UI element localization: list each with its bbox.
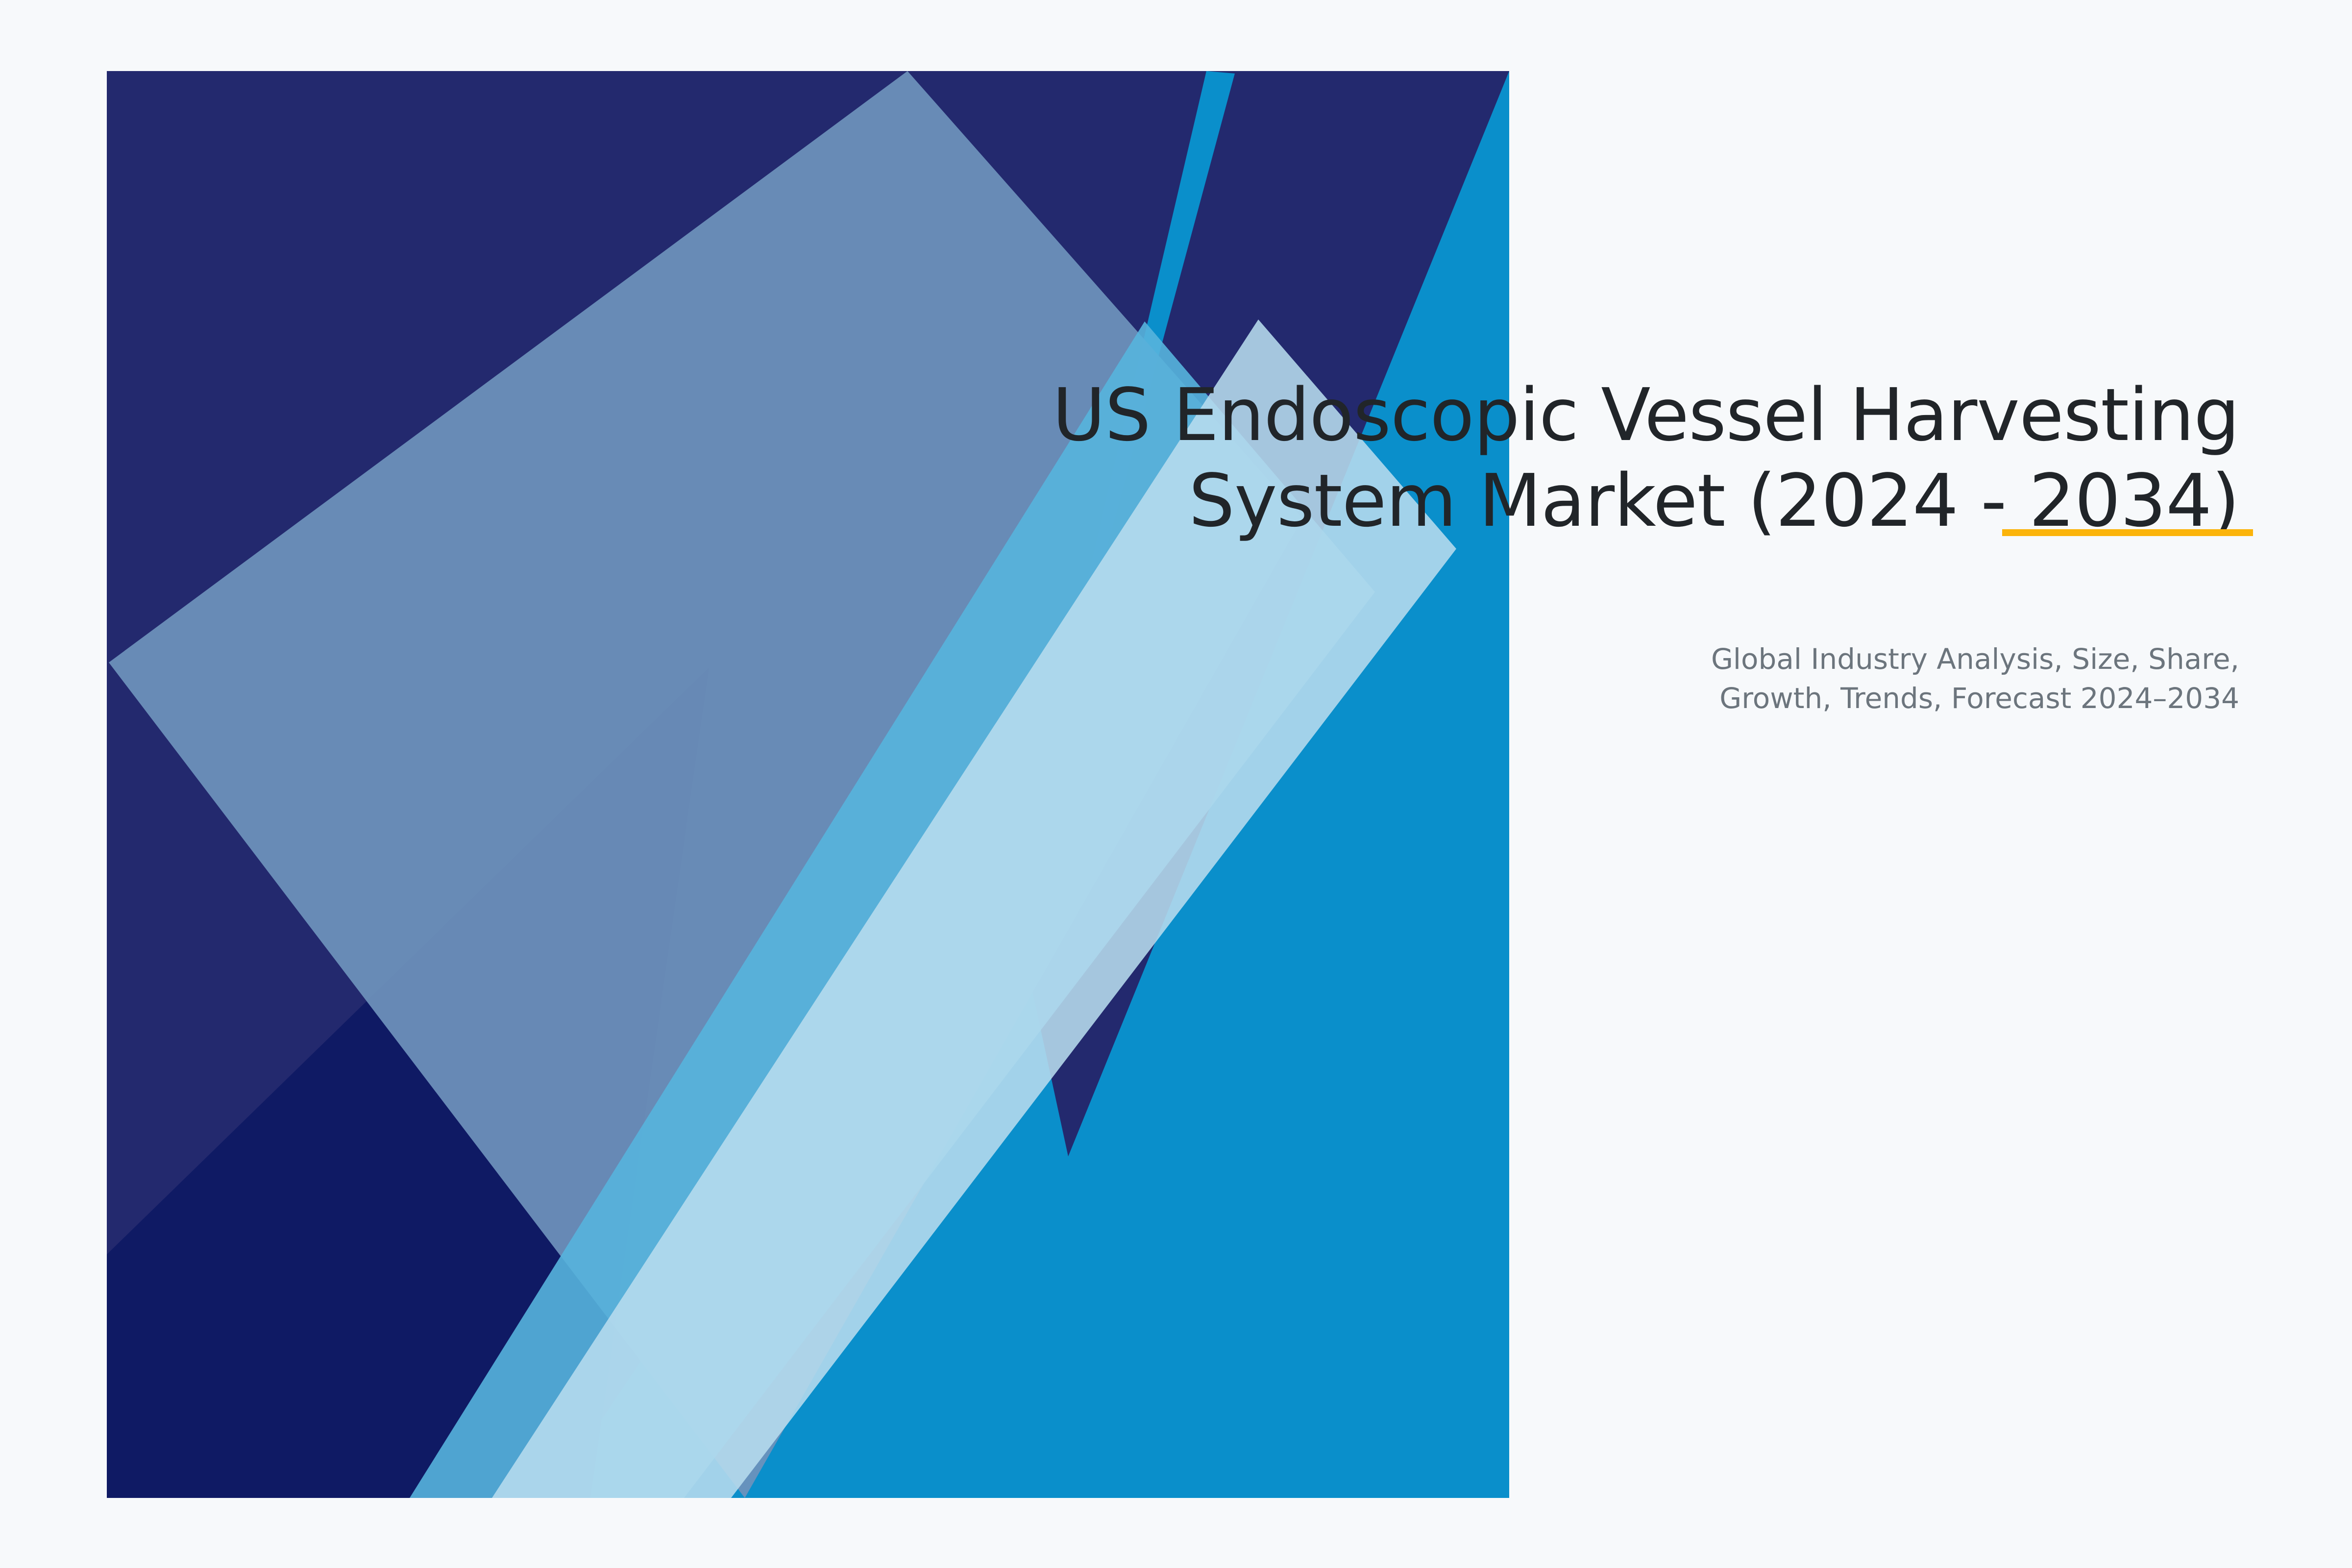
shape-slate-blue-parallelogram [109, 71, 1302, 1498]
artwork-svg [0, 0, 2352, 1568]
shape-deep-navy-spike [107, 667, 709, 1498]
shape-navy-upper-triangle [107, 71, 1509, 1498]
report-cover: US Endoscopic Vessel Harvesting System M… [0, 0, 2352, 1568]
page-subtitle: Global Industry Analysis, Size, Share, G… [980, 543, 2239, 718]
cover-artwork [0, 0, 2352, 1568]
cover-text-block: US Endoscopic Vessel Harvesting System M… [980, 372, 2239, 718]
shape-cyan-background-panel [107, 71, 1509, 1498]
page-title: US Endoscopic Vessel Harvesting System M… [980, 372, 2239, 543]
title-underline-accent [2002, 529, 2253, 536]
